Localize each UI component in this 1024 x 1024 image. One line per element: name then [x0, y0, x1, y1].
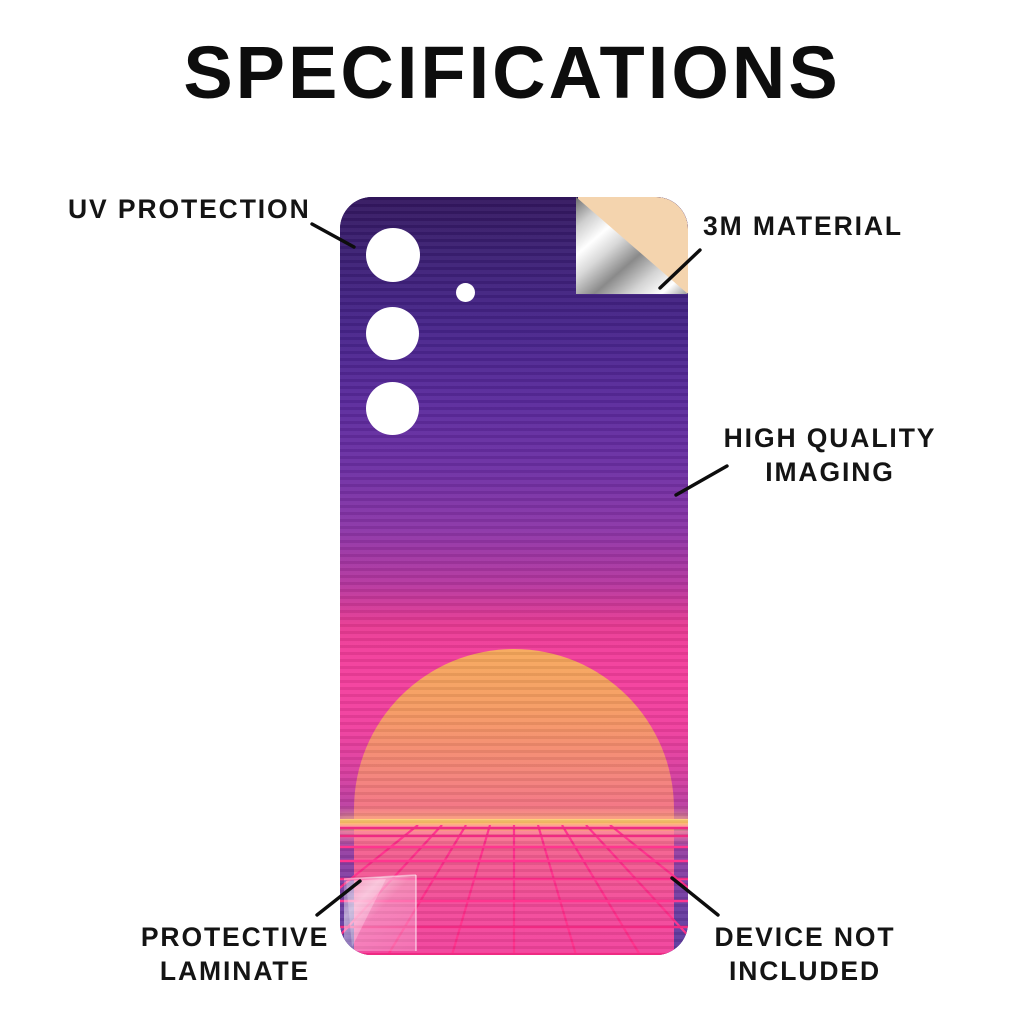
callout-uv-protection-line1: UV PROTECTION [68, 194, 311, 224]
leader-protective-laminate [317, 881, 360, 915]
leader-3m-material [660, 250, 700, 288]
callout-label-3m-material: 3M MATERIAL [703, 210, 903, 244]
specifications-infographic: SPECIFICATIONS [0, 0, 1024, 1024]
callout-high-quality-imaging-line1: HIGH QUALITY [724, 423, 937, 453]
callout-device-not-included-line1: DEVICE NOT [715, 922, 896, 952]
callout-high-quality-imaging-line2: IMAGING [724, 456, 937, 490]
callout-label-high-quality-imaging: HIGH QUALITY IMAGING [724, 422, 937, 490]
callout-protective-laminate-line1: PROTECTIVE [141, 922, 329, 952]
callout-protective-laminate-line2: LAMINATE [141, 955, 329, 989]
callout-device-not-included-line2: INCLUDED [715, 955, 896, 989]
callout-3m-material-line1: 3M MATERIAL [703, 211, 903, 241]
callout-label-device-not-included: DEVICE NOT INCLUDED [715, 921, 896, 989]
leader-lines [0, 0, 1024, 1024]
callout-label-protective-laminate: PROTECTIVE LAMINATE [141, 921, 329, 989]
leader-device-not-included [672, 878, 718, 915]
leader-high-quality-imaging [676, 466, 727, 495]
leader-uv-protection [312, 224, 354, 247]
callout-label-uv-protection: UV PROTECTION [68, 193, 311, 227]
